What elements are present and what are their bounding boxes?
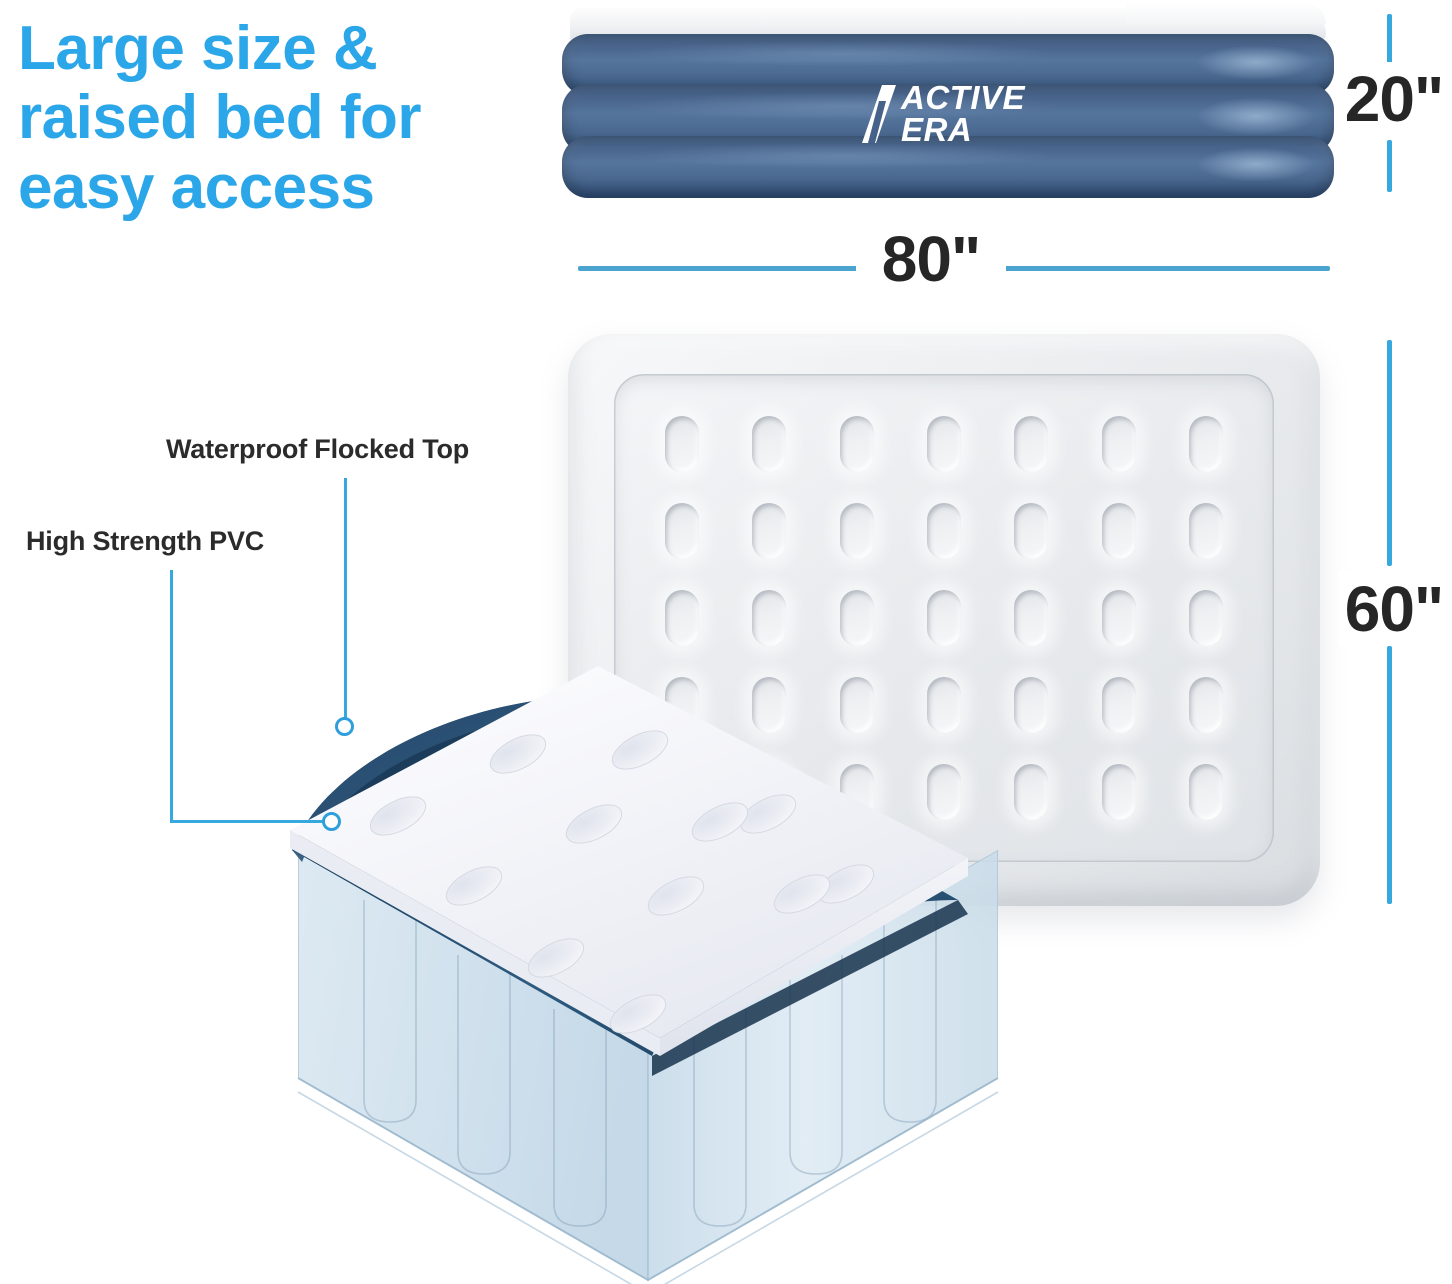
dimple: [1102, 590, 1136, 646]
dimple-cell: [1163, 662, 1250, 749]
brand-logo: ACTIVE ERA: [862, 82, 1025, 145]
dimple-cell: [1075, 749, 1162, 836]
callout-dot-pvc: [322, 812, 341, 831]
dimple-cell: [988, 400, 1075, 487]
dimple-cell: [725, 400, 812, 487]
dimple: [752, 503, 786, 559]
dimple-cell: [1075, 662, 1162, 749]
highlight-sheen: [1196, 97, 1316, 136]
dimple: [665, 503, 699, 559]
dimension-line-depth-lower: [1387, 646, 1392, 904]
dimple: [1189, 590, 1223, 646]
dimple-cell: [1163, 487, 1250, 574]
dimension-label-height: 20": [1340, 62, 1448, 136]
folded-mattress-side-view: ACTIVE ERA: [562, 8, 1334, 198]
dimension-line-width-right: [1000, 266, 1330, 271]
dimple: [927, 416, 961, 472]
dimple-cell: [1075, 400, 1162, 487]
dimple: [927, 503, 961, 559]
dimension-line-height-upper: [1387, 14, 1392, 68]
dimple-cell: [1075, 487, 1162, 574]
logo-text-line-2: ERA: [901, 114, 1025, 146]
dimple: [1102, 677, 1136, 733]
dimension-line-width-left: [578, 266, 864, 271]
callout-dot-flocked-top: [335, 717, 354, 736]
dimple-cell: [725, 487, 812, 574]
dimple: [752, 416, 786, 472]
dimple-cell: [1163, 400, 1250, 487]
logo-chevron-icon: [862, 85, 896, 143]
dimple: [1102, 503, 1136, 559]
dimple: [1189, 416, 1223, 472]
dimple-cell: [638, 400, 725, 487]
dimple: [1189, 677, 1223, 733]
dimension-label-width: 80": [856, 222, 1006, 296]
dimple-cell: [1163, 574, 1250, 661]
dimple-cell: [988, 487, 1075, 574]
dimple: [1189, 764, 1223, 820]
dimple-cell: [900, 400, 987, 487]
dimple-cell: [813, 400, 900, 487]
dimple-cell: [813, 487, 900, 574]
dimple: [1014, 503, 1048, 559]
logo-text-line-1: ACTIVE: [901, 82, 1025, 114]
callout-leader-flocked-top: [344, 478, 347, 720]
callout-label-high-strength-pvc: High Strength PVC: [26, 526, 264, 557]
dimension-line-depth-upper: [1387, 340, 1392, 566]
dimension-line-height-lower: [1387, 140, 1392, 192]
callout-leader-pvc-vertical: [170, 570, 173, 822]
dimple-cell: [638, 487, 725, 574]
callout-leader-pvc-horizontal: [170, 820, 328, 823]
page-title: Large size & raised bed for easy access: [18, 14, 548, 222]
callout-label-waterproof-flocked-top: Waterproof Flocked Top: [166, 434, 469, 465]
highlight-sheen: [632, 143, 1052, 168]
highlight-sheen: [632, 41, 1052, 66]
dimple-cell: [1163, 749, 1250, 836]
dimension-label-depth: 60": [1338, 572, 1450, 646]
product-infographic: Large size & raised bed for easy access: [0, 0, 1452, 1284]
dimple: [840, 503, 874, 559]
dimple-cell: [900, 487, 987, 574]
highlight-sheen: [1196, 45, 1316, 80]
highlight-sheen: [1196, 147, 1316, 182]
dimple-cell: [1075, 574, 1162, 661]
dimple: [665, 416, 699, 472]
dimple: [1102, 764, 1136, 820]
dimple: [840, 416, 874, 472]
dimple: [1014, 416, 1048, 472]
dimple: [1102, 416, 1136, 472]
layer-cutaway-diagram: [268, 600, 1028, 1284]
dimple: [1189, 503, 1223, 559]
